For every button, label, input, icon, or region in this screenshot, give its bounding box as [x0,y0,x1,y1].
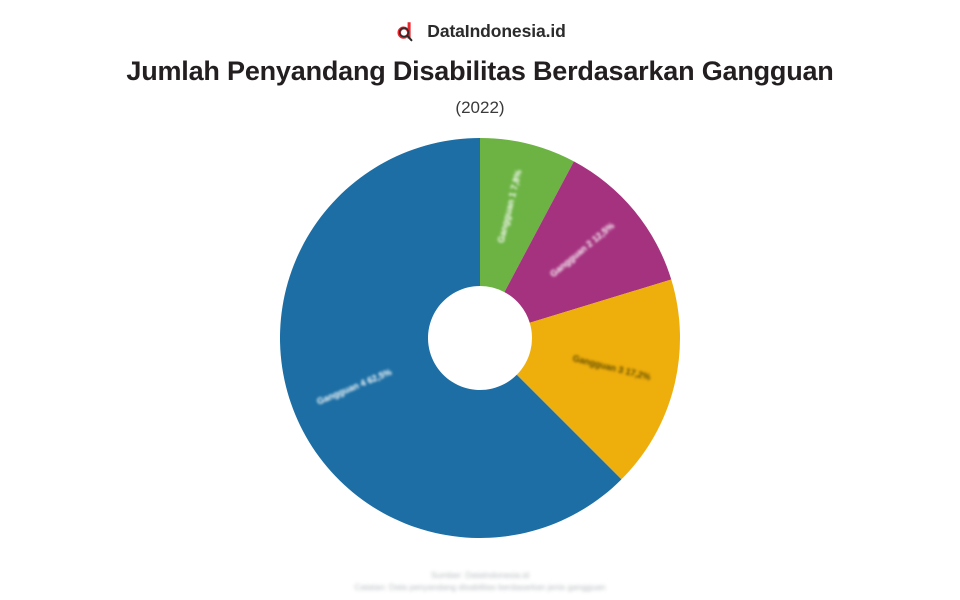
source-note: Sumber: DataIndonesia.id Catatan: Data p… [0,569,960,595]
donut-chart-svg: Gangguan 1 7,8% Gangguan 2 12,5% Ganggua… [270,128,690,548]
page-title: Jumlah Penyandang Disabilitas Berdasarka… [0,56,960,87]
donut-slices [280,138,680,538]
page-subtitle: (2022) [0,98,960,118]
donut-chart: Gangguan 1 7,8% Gangguan 2 12,5% Ganggua… [0,128,960,558]
brand-header: DataIndonesia.id [0,18,960,46]
source-line-2: Catatan: Data penyandang disabilitas ber… [0,581,960,594]
source-line-1: Sumber: DataIndonesia.id [0,569,960,582]
datanesia-magnifier-logo-icon [394,20,418,44]
infographic-canvas: DataIndonesia.id Jumlah Penyandang Disab… [0,0,960,600]
brand-name: DataIndonesia.id [427,23,565,41]
